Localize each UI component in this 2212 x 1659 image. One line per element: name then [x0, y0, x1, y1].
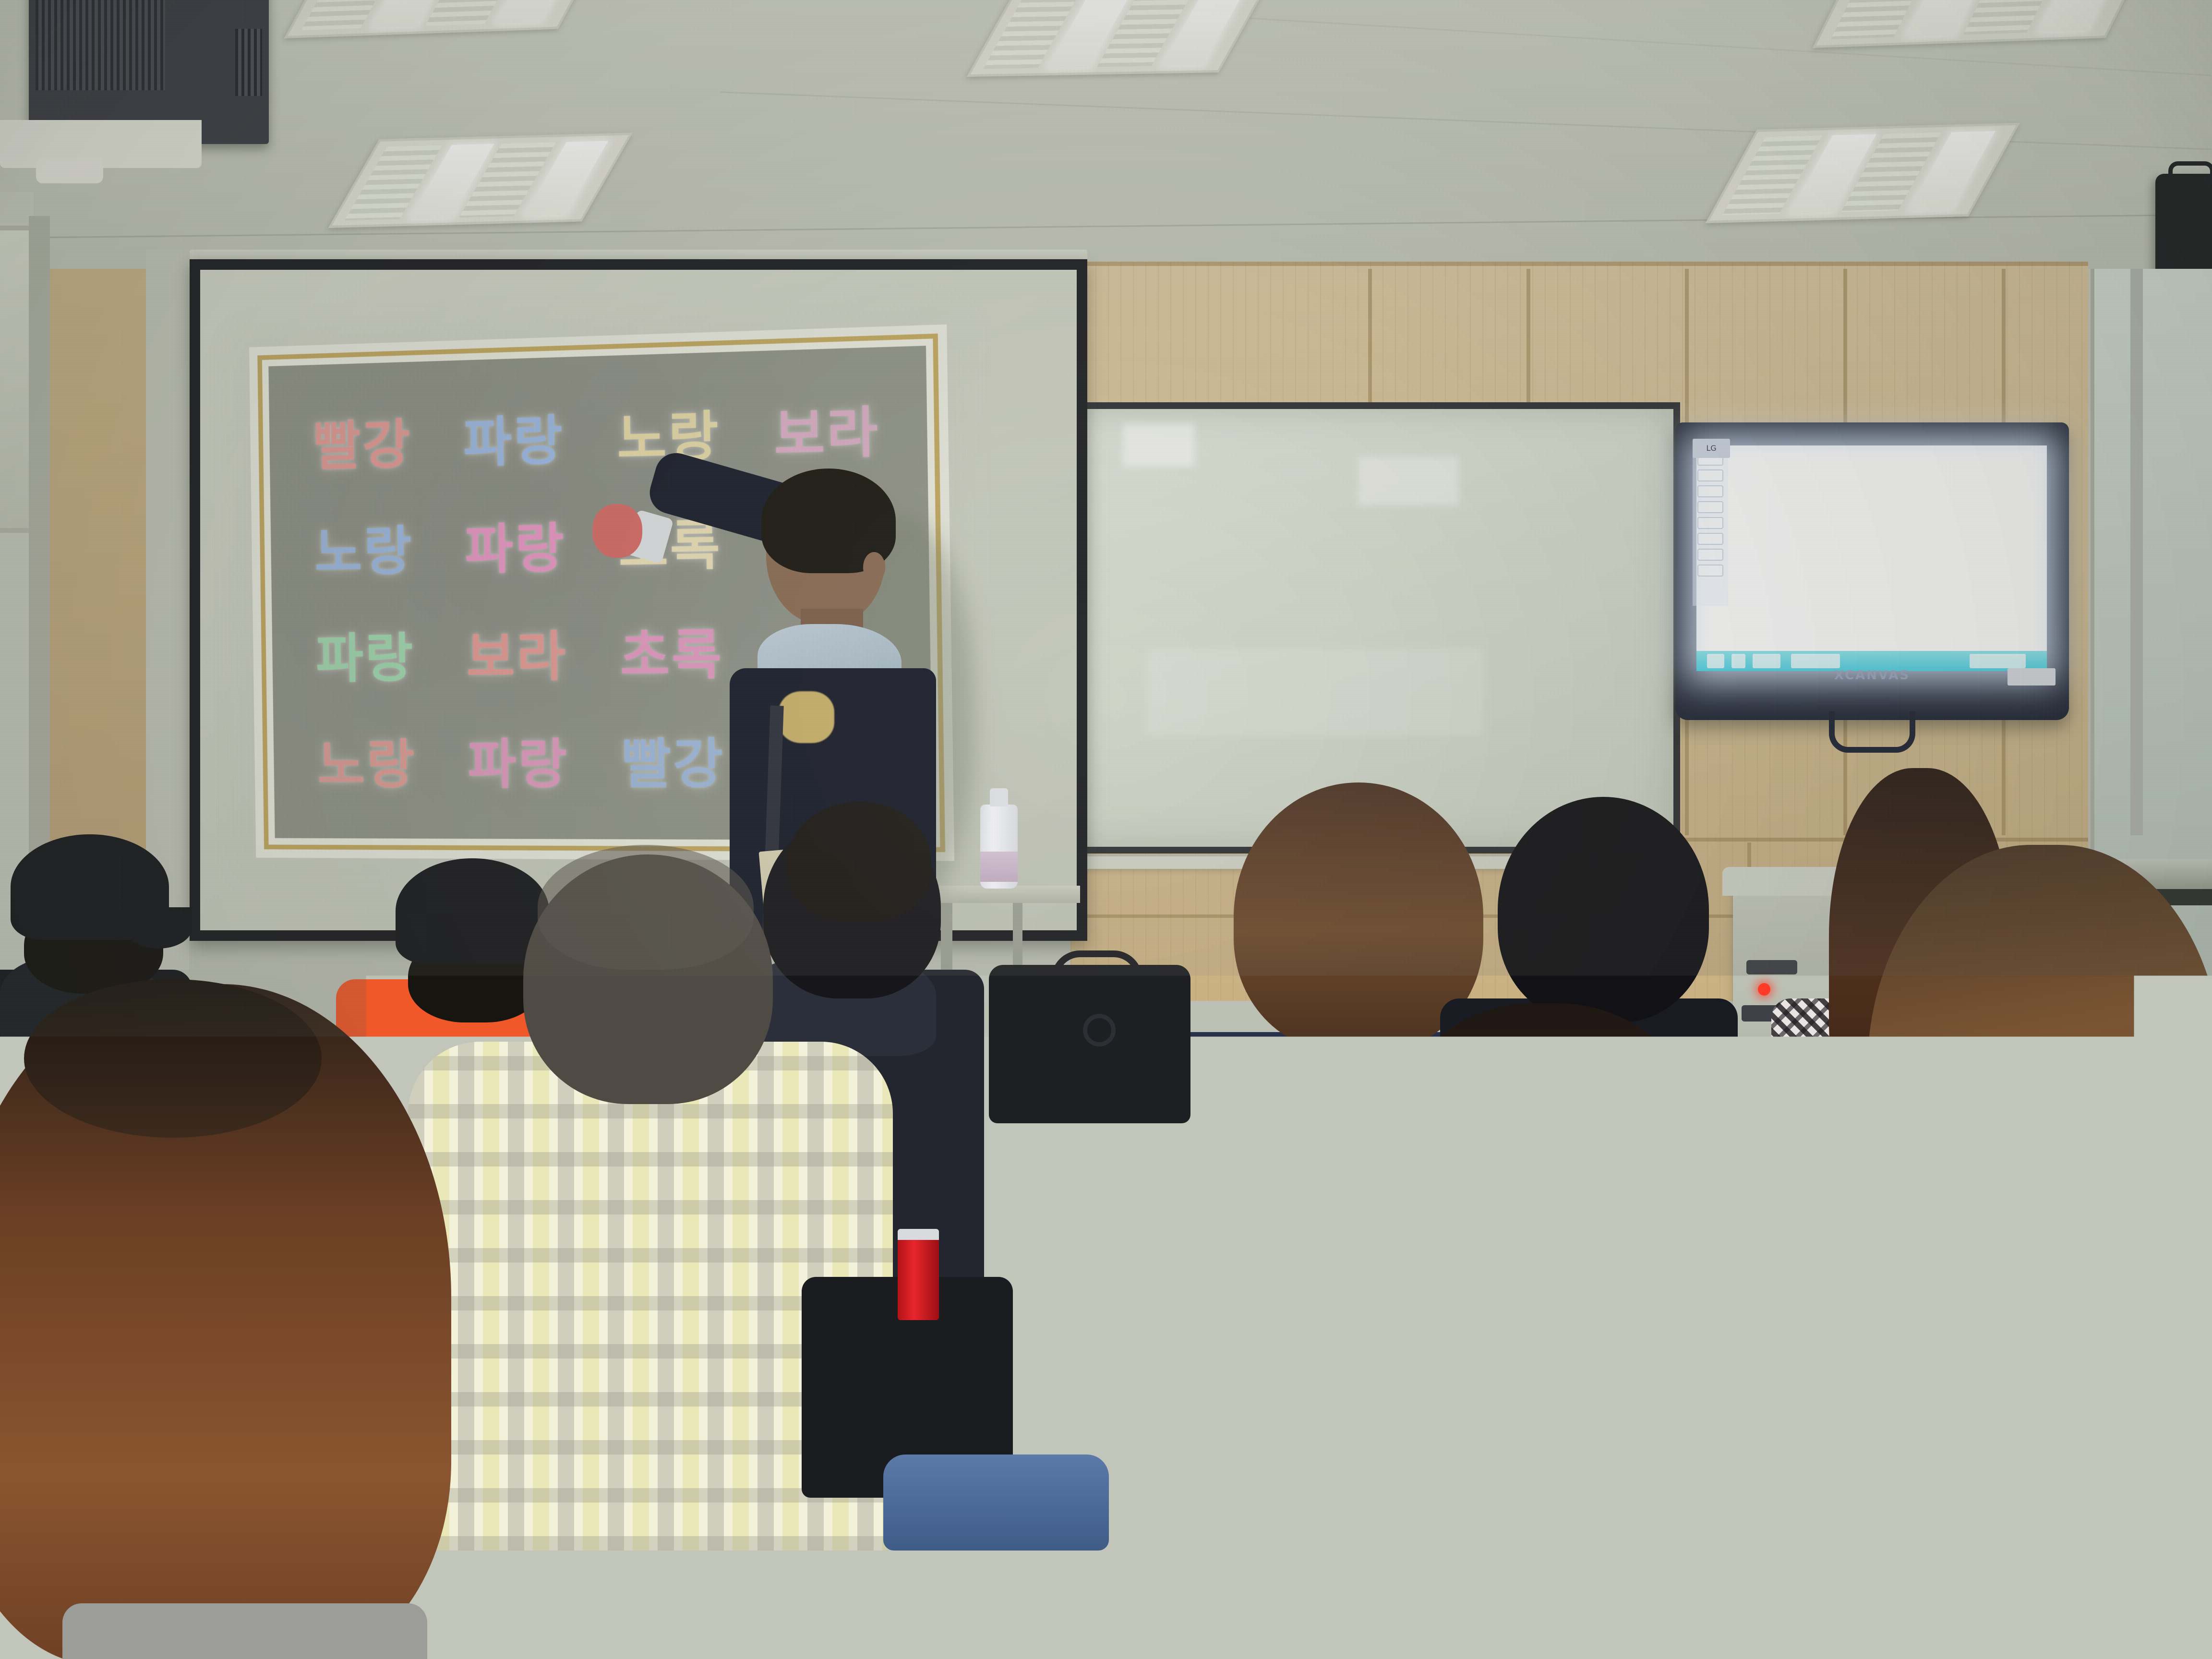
paper-sheet-foreground[interactable] — [792, 1603, 1061, 1659]
desk-leg — [1008, 1158, 1021, 1278]
stroop-word: 보라 — [440, 598, 594, 707]
stroop-word: 파랑 — [441, 706, 596, 815]
wall-mounted-tv: LG XCANVAS — [1675, 422, 2069, 720]
presenter-badge-emblem — [779, 691, 834, 743]
torso — [62, 1603, 427, 1659]
hair — [1498, 797, 1709, 1022]
presenter-ear — [863, 552, 885, 583]
wall-speaker — [2155, 174, 2212, 284]
projector-lens — [36, 158, 103, 183]
presenter-hand — [592, 504, 642, 558]
tissue-slot — [660, 1527, 751, 1548]
classroom-scene: 빨강 파랑 노랑 보라 노랑 파랑 초록 파랑 보라 초록 노랑 파랑 빨강 — [0, 0, 2212, 1659]
hair-crown — [24, 979, 322, 1138]
stroop-word: 노랑 — [289, 493, 440, 601]
backpack-strap — [1051, 950, 1142, 994]
wood-seam — [1070, 262, 2088, 266]
stroop-word: 빨강 — [287, 386, 438, 496]
hair-highlight — [538, 845, 754, 970]
cap-brim-icon — [125, 907, 192, 949]
ceiling-light-fixture — [1706, 123, 2020, 223]
stroop-word: 파랑 — [437, 381, 591, 493]
lectern-handle[interactable] — [1746, 960, 1797, 974]
tv-sidebar-toolbar[interactable] — [1693, 447, 1728, 606]
tissue-slot — [1134, 1589, 1219, 1609]
black-leather-jacket-pile[interactable] — [2007, 1498, 2212, 1659]
coca-cola-can[interactable] — [898, 1229, 939, 1320]
tissue-box-left[interactable] — [638, 1507, 773, 1599]
tissue-pattern — [652, 1515, 712, 1526]
hair — [787, 802, 931, 922]
power-indicator-led — [1758, 983, 1770, 996]
stroop-word: 파랑 — [290, 600, 441, 708]
tv-badge-sticker — [2008, 668, 2056, 685]
stroop-word: 파랑 — [438, 490, 593, 600]
tv-screen[interactable] — [1696, 445, 2047, 671]
tv-wall-mount — [1829, 711, 1915, 753]
tissue-box-center[interactable] — [1114, 1570, 1238, 1659]
stroop-word: 노랑 — [291, 707, 443, 814]
backpack-ring — [1083, 1014, 1116, 1046]
blue-pouch-bag[interactable] — [883, 1455, 1109, 1551]
tv-corner-logo: LG — [1693, 439, 1730, 458]
can-top — [898, 1229, 939, 1240]
paper-sheet-right[interactable] — [1852, 1389, 2056, 1449]
paper-sheet-rear-right[interactable] — [1911, 1210, 2055, 1243]
hair — [1392, 1003, 1699, 1291]
speaker-bracket — [2168, 161, 2212, 176]
glass-mullion — [2130, 269, 2143, 835]
